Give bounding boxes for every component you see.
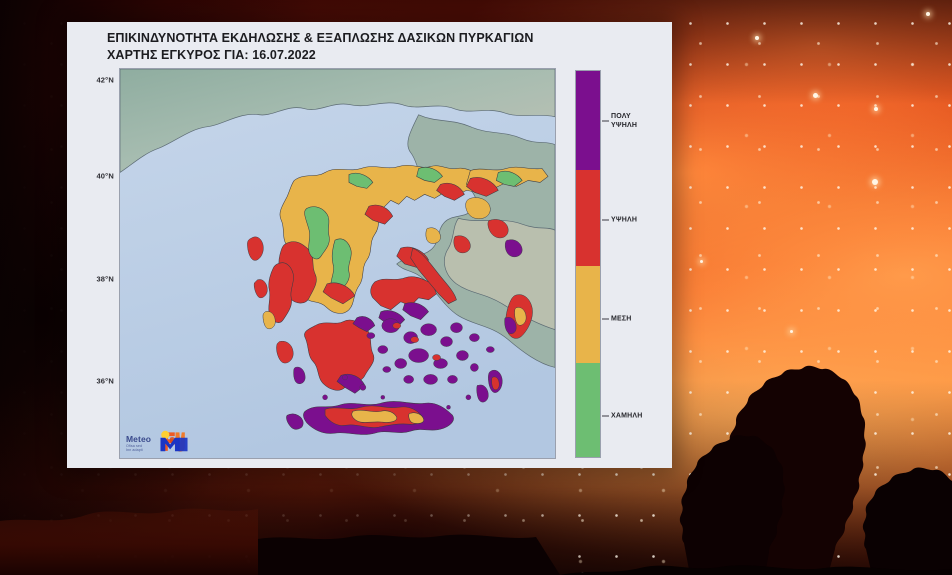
- legend-band-medium[interactable]: [576, 266, 600, 363]
- legend-label-high: ΥΨΗΛΗ: [611, 215, 637, 224]
- lat-tick-38n: 38°N: [96, 275, 114, 284]
- meteo-logo: Meteo Ofisa sed Inn adapti: [126, 435, 222, 453]
- fire-risk-map-card: ΕΠΙΚΙΝΔΥΝΟΤΗΤΑ ΕΚΔΗΛΩΣΗΣ & ΕΞΑΠΛΩΣΗΣ ΔΑΣ…: [67, 22, 672, 468]
- ember-spark: [874, 107, 878, 111]
- ember-spark: [926, 12, 930, 16]
- meteo-m-icon: [126, 430, 222, 453]
- legend-tick-medium: [602, 318, 609, 319]
- legend-band-low[interactable]: [576, 363, 600, 458]
- lat-tick-42n: 42°N: [96, 75, 114, 84]
- ember-spark: [755, 36, 759, 40]
- legend-band-very-high[interactable]: [576, 71, 600, 169]
- legend-label-low: ΧΑΜΗΛΗ: [611, 411, 643, 420]
- lat-tick-40n: 40°N: [96, 171, 114, 180]
- risk-legend: ΠΟΛΥ ΥΨΗΛΗ ΥΨΗΛΗ ΜΕΣΗ ΧΑΜΗΛΗ: [567, 70, 675, 458]
- page-title: ΕΠΙΚΙΝΔΥΝΟΤΗΤΑ ΕΚΔΗΛΩΣΗΣ & ΕΞΑΠΛΩΣΗΣ ΔΑΣ…: [75, 30, 662, 63]
- map-body: 42°N 40°N 38°N 36°N: [75, 68, 662, 459]
- legend-tick-low: [602, 415, 609, 416]
- lat-tick-36n: 36°N: [96, 377, 114, 386]
- title-line-2: ΧΑΡΤΗΣ ΕΓΚΥΡΟΣ ΓΙΑ: 16.07.2022: [107, 48, 316, 62]
- legend-tick-very-high: [602, 120, 609, 121]
- ember-spark: [700, 260, 703, 263]
- ember-spark: [872, 179, 878, 185]
- risk-map-plot[interactable]: Meteo Ofisa sed Inn adapti: [119, 68, 556, 459]
- latitude-axis: 42°N 40°N 38°N 36°N: [75, 68, 119, 459]
- legend-label-medium: ΜΕΣΗ: [611, 314, 632, 323]
- ember-spark: [813, 93, 818, 98]
- sun-icon: [161, 431, 169, 439]
- legend-label-very-high: ΠΟΛΥ ΥΨΗΛΗ: [611, 112, 637, 130]
- legend-colorbar: [575, 70, 601, 458]
- logo-stack: Meteo Ofisa sed Inn adapti: [126, 430, 222, 453]
- legend-band-high[interactable]: [576, 170, 600, 267]
- legend-tick-high: [602, 219, 609, 220]
- greece-risk-map: [120, 69, 555, 458]
- title-line-1: ΕΠΙΚΙΝΔΥΝΟΤΗΤΑ ΕΚΔΗΛΩΣΗΣ & ΕΞΑΠΛΩΣΗΣ ΔΑΣ…: [107, 31, 533, 45]
